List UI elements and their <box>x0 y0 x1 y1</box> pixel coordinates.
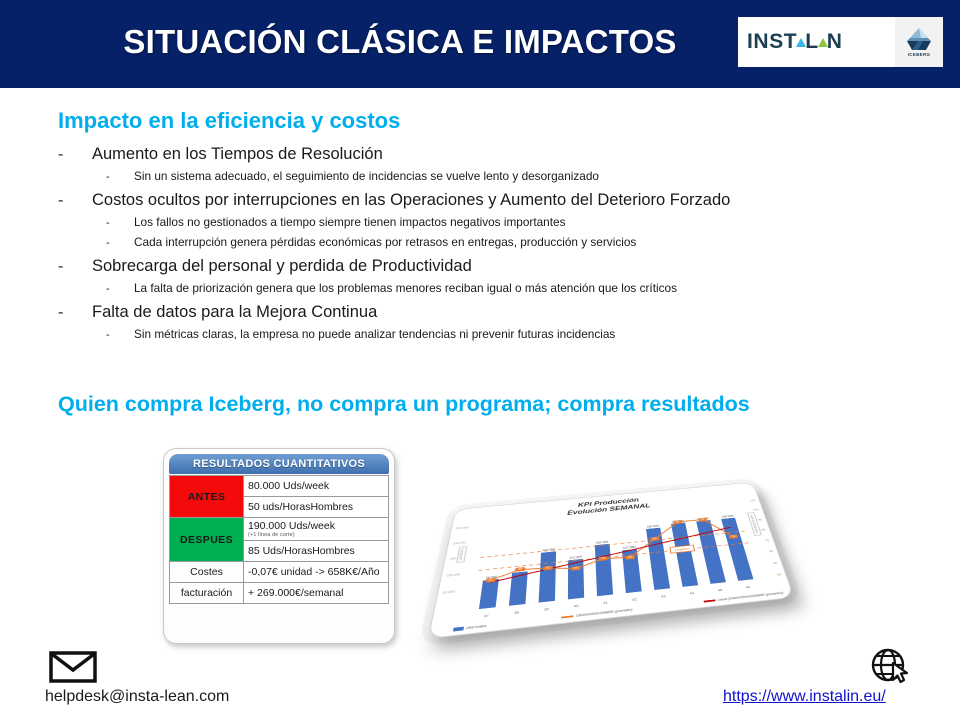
results-facturacion-value: + 269.000€/semanal <box>244 583 389 604</box>
x-axis-tick-label: 39 <box>544 607 549 611</box>
target-dashed-line <box>478 543 748 571</box>
x-axis-tick-label: 40 <box>574 604 579 608</box>
legend-swatch-bar-icon <box>453 627 464 632</box>
heading-quien-compra-iceberg: Quien compra Iceberg, no compra un progr… <box>58 392 750 417</box>
table-row: ANTES 80.000 Uds/week <box>170 476 389 497</box>
y2-axis-tick-label: 90 <box>758 518 763 521</box>
results-facturacion-label: facturación <box>170 583 244 604</box>
bullet-dash: - <box>58 146 92 164</box>
y2-axis-tick-label: 100 <box>753 509 759 512</box>
results-antes-label: ANTES <box>170 476 244 518</box>
results-cell-note: (+1 línea de corte) <box>248 532 384 538</box>
bullet-text: Falta de datos para la Mejora Continua <box>92 300 377 324</box>
sub-bullet-dash: - <box>106 329 134 341</box>
website-link[interactable]: https://www.instalin.eu/ <box>723 688 886 706</box>
legend-label: Lineal (UND/HORASHOMBRE (promedio)) <box>717 591 784 602</box>
sub-bullet-item: - Los fallos no gestionados a tiempo sie… <box>58 213 918 232</box>
bullet-dash: - <box>58 258 92 276</box>
x-axis-tick-label: 43 <box>661 595 666 599</box>
logo-word-part3: N <box>827 30 843 53</box>
results-cell-main: 190.000 Uds/week <box>248 520 335 532</box>
sub-bullet-dash: - <box>106 217 134 229</box>
sub-bullet-text: La falta de priorización genera que los … <box>134 279 677 298</box>
table-row: facturación + 269.000€/semanal <box>170 583 389 604</box>
results-despues-label: DESPUES <box>170 518 244 562</box>
kpi-chart-plate: KPI Producción Evolución SEMANAL 50.0001… <box>427 482 794 639</box>
bullet-item: - Aumento en los Tiempos de Resolución <box>58 142 918 166</box>
globe-cursor-icon <box>869 648 913 689</box>
sub-bullet-item: - Sin métricas claras, la empresa no pue… <box>58 325 918 344</box>
sub-bullet-text: Sin métricas claras, la empresa no puede… <box>134 325 615 344</box>
legend-entry: Lineal (UND/HORASHOMBRE (promedio)) <box>703 591 783 603</box>
results-table: ANTES 80.000 Uds/week 50 uds/HorasHombre… <box>169 475 389 604</box>
bullet-dash: - <box>58 304 92 322</box>
x-axis-tick-label: 42 <box>632 598 637 602</box>
y2-axis-title: UNIDADES/HHORA <box>747 512 762 536</box>
heading-impacto-eficiencia: Impacto en la eficiencia y costos <box>58 108 400 134</box>
x-axis-tick-label: 46 <box>745 585 750 589</box>
bullet-item: - Falta de datos para la Mejora Continua <box>58 300 918 324</box>
results-costes-value: -0,07€ unidad -> 658K€/Año <box>244 562 389 583</box>
y2-axis-tick-label: 80 <box>761 528 766 531</box>
results-cell: 50 uds/HorasHombres <box>244 497 389 518</box>
y-axis-tick-label: 200.000 <box>452 541 466 545</box>
y-axis-tick-label: 50.000 <box>442 590 455 595</box>
bullet-dash: - <box>58 192 92 210</box>
legend-entry: UND/HORASHOMBRE (promedio) <box>562 608 633 619</box>
bullet-text: Sobrecarga del personal y perdida de Pro… <box>92 254 472 278</box>
bullet-text: Costos ocultos por interrupciones en las… <box>92 188 730 212</box>
iceberg-logo-label: ICEBERG <box>908 52 931 57</box>
sub-bullet-text: Cada interrupción genera pérdidas económ… <box>134 233 636 252</box>
table-row: DESPUES 190.000 Uds/week (+1 línea de co… <box>170 518 389 541</box>
results-table-card: RESULTADOS CUANTITATIVOS ANTES 80.000 Ud… <box>163 448 395 644</box>
email-icon <box>49 651 97 688</box>
x-axis-tick-label: 38 <box>514 611 519 615</box>
bullet-text: Aumento en los Tiempos de Resolución <box>92 142 383 166</box>
x-axis-tick-label: 41 <box>603 601 608 605</box>
target-dashed-line <box>480 531 745 557</box>
results-cell: 190.000 Uds/week (+1 línea de corte) <box>244 518 389 541</box>
legend-entry: UND totales <box>453 624 487 631</box>
sub-bullet-item: - La falta de priorización genera que lo… <box>58 279 918 298</box>
logo-word-part2: L <box>805 30 818 53</box>
impact-bullet-list: - Aumento en los Tiempos de Resolución -… <box>58 140 918 344</box>
y2-axis-tick-label: 60 <box>769 550 774 553</box>
y-axis-title: UNIDADES <box>456 546 467 563</box>
y-axis-tick-label: 250.000 <box>455 526 468 530</box>
results-table-title: RESULTADOS CUANTITATIVOS <box>169 454 389 474</box>
line-series-avg <box>491 517 738 580</box>
y2-axis-tick-label: 40 <box>777 573 782 577</box>
y2-axis-tick-label: 70 <box>765 539 770 542</box>
email-address: helpdesk@insta-lean.com <box>45 688 229 706</box>
sub-bullet-item: - Cada interrupción genera pérdidas econ… <box>58 233 918 252</box>
results-cell: 80.000 Uds/week <box>244 476 389 497</box>
logo-wordmark: INSTLN <box>738 30 895 54</box>
logo-triangle-e-icon <box>818 38 828 47</box>
iceberg-icon <box>904 27 934 51</box>
sub-bullet-text: Los fallos no gestionados a tiempo siemp… <box>134 213 566 232</box>
sub-bullet-dash: - <box>106 237 134 249</box>
x-axis-tick-label: 44 <box>689 592 694 596</box>
logo-word-part1: INST <box>747 30 797 53</box>
y-axis-tick-label: 100.000 <box>446 573 460 578</box>
x-axis-tick-label: 37 <box>484 614 489 618</box>
x-axis-tick-label: 45 <box>717 588 722 592</box>
results-costes-label: Costes <box>170 562 244 583</box>
instalean-logo: INSTLN ICEBERG <box>738 17 943 67</box>
sub-bullet-item: - Sin un sistema adecuado, el seguimient… <box>58 167 918 186</box>
page-title: SITUACIÓN CLÁSICA E IMPACTOS <box>70 20 730 64</box>
y2-axis-tick-label: 50 <box>773 561 778 564</box>
bullet-item: - Costos ocultos por interrupciones en l… <box>58 188 918 212</box>
sub-bullet-dash: - <box>106 283 134 295</box>
results-cell: 85 Uds/HorasHombres <box>244 541 389 562</box>
y2-axis-tick-label: 110 <box>750 499 756 502</box>
legend-label: UND totales <box>466 624 487 630</box>
legend-swatch-line-icon <box>562 616 574 619</box>
table-row: Costes -0,07€ unidad -> 658K€/Año <box>170 562 389 583</box>
bullet-item: - Sobrecarga del personal y perdida de P… <box>58 254 918 278</box>
sub-bullet-text: Sin un sistema adecuado, el seguimiento … <box>134 167 599 186</box>
sub-bullet-dash: - <box>106 171 134 183</box>
iceberg-logo-mark: ICEBERG <box>895 17 943 67</box>
kpi-chart-graphic: KPI Producción Evolución SEMANAL 50.0001… <box>424 452 800 648</box>
legend-swatch-trend-icon <box>704 600 716 602</box>
logo-triangle-a-icon <box>796 38 806 47</box>
legend-label: UND/HORASHOMBRE (promedio) <box>576 608 632 618</box>
